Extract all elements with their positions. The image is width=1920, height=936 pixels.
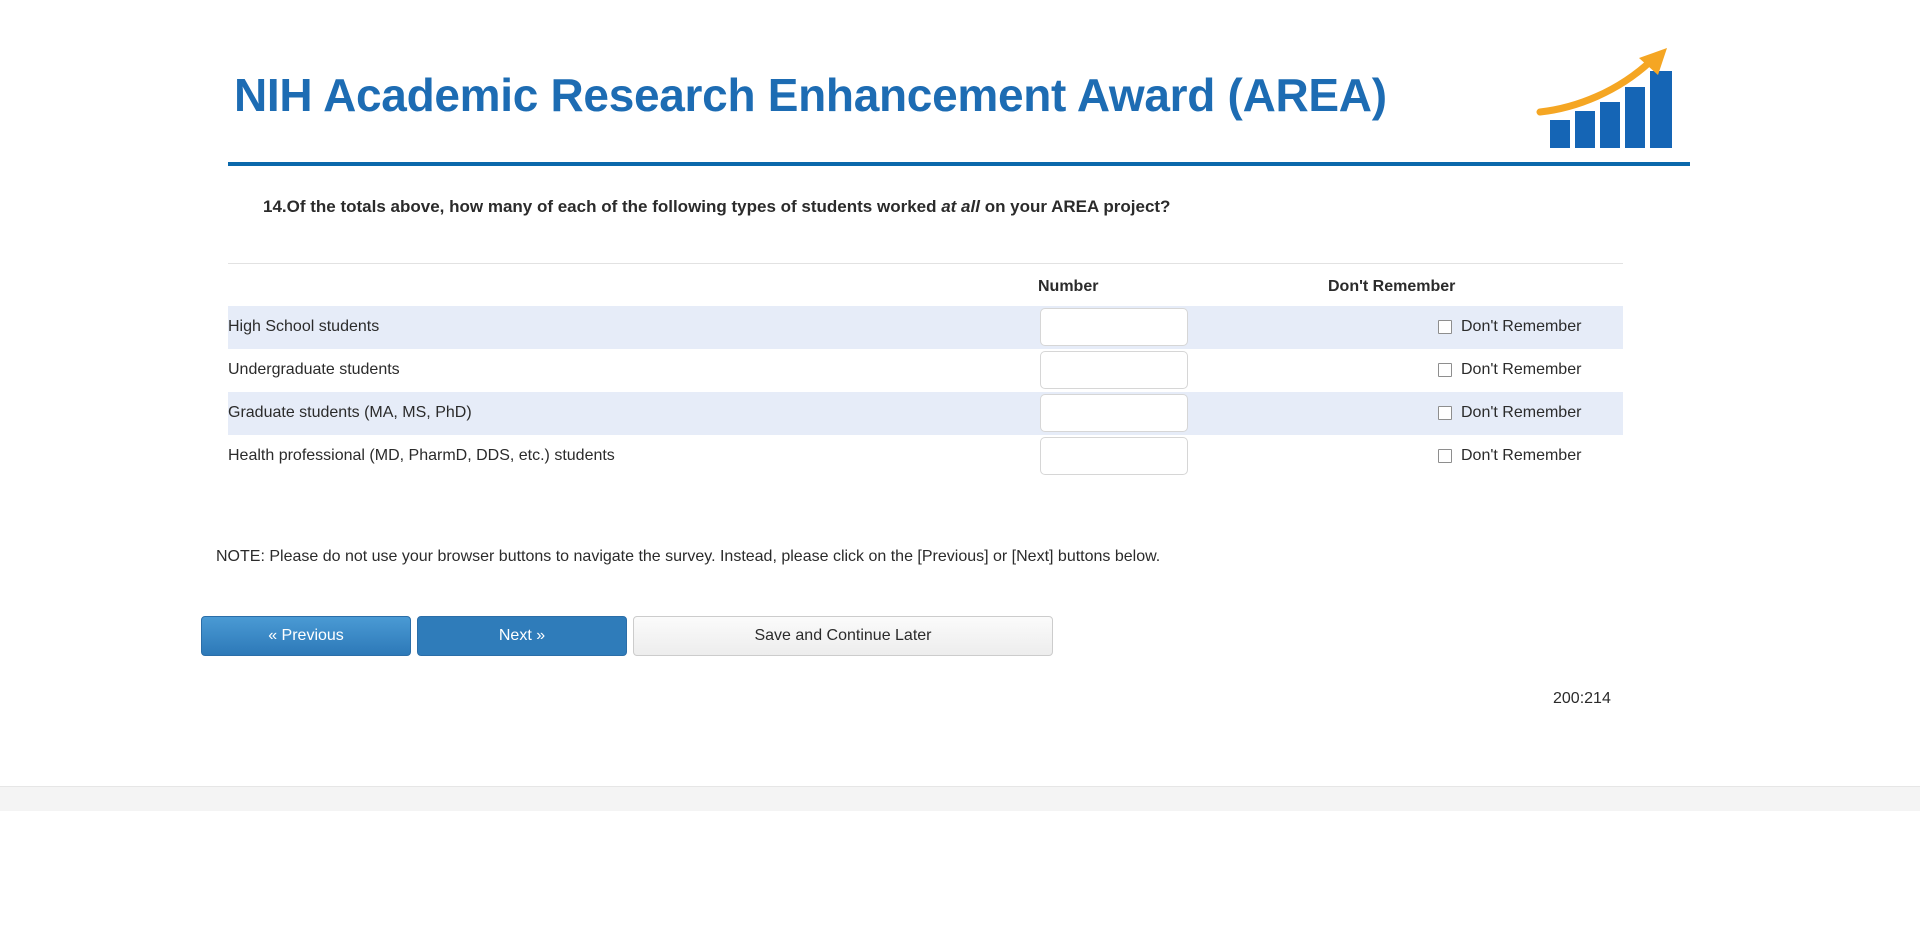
row-label-graduate: Graduate students (MA, MS, PhD) [228,392,1038,435]
dont-remember-option-health-professional[interactable]: Don't Remember [1328,447,1623,465]
table-row: High School students Don't Remember [228,306,1623,349]
dont-remember-label: Don't Remember [1461,404,1581,422]
navigation-note: NOTE: Please do not use your browser but… [216,546,1690,568]
table-row: Health professional (MD, PharmD, DDS, et… [228,435,1623,478]
row-number-cell [1038,435,1328,478]
save-and-continue-later-button[interactable]: Save and Continue Later [633,616,1053,656]
matrix-body: High School students Don't Remember Unde… [228,306,1623,478]
table-row: Graduate students (MA, MS, PhD) Don't Re… [228,392,1623,435]
dont-remember-option-high-school[interactable]: Don't Remember [1328,318,1623,336]
page-title: NIH Academic Research Enhancement Award … [228,70,1387,121]
growth-bar-chart-logo [1536,40,1686,150]
progress-counter: 200:214 [1553,690,1611,708]
navigation-buttons: « Previous Next » Save and Continue Late… [201,616,1690,656]
row-number-cell [1038,306,1328,349]
row-label-undergraduate: Undergraduate students [228,349,1038,392]
row-dont-remember-cell: Don't Remember [1328,306,1623,349]
number-input-undergraduate[interactable] [1040,351,1188,389]
question-text-after: on your AREA project? [980,197,1170,216]
number-input-high-school[interactable] [1040,308,1188,346]
dont-remember-label: Don't Remember [1461,361,1581,379]
table-row: Undergraduate students Don't Remember [228,349,1623,392]
checkbox-icon[interactable] [1438,320,1452,334]
page-title-text: NIH Academic Research Enhancement Award … [234,69,1387,121]
question-text-before: Of the totals above, how many of each of… [287,197,942,216]
students-matrix-table: Number Don't Remember High School studen… [228,263,1623,478]
row-label-high-school: High School students [228,306,1038,349]
dont-remember-label: Don't Remember [1461,447,1581,465]
checkbox-icon[interactable] [1438,449,1452,463]
number-input-graduate[interactable] [1040,394,1188,432]
page-header: NIH Academic Research Enhancement Award … [228,30,1690,165]
number-input-health-professional[interactable] [1040,437,1188,475]
question-emphasis: at all [941,197,980,216]
survey-content: 14.Of the totals above, how many of each… [228,196,1690,656]
row-number-cell [1038,349,1328,392]
matrix-header-row: Number Don't Remember [228,263,1623,306]
row-dont-remember-cell: Don't Remember [1328,349,1623,392]
matrix-header: Number Don't Remember [228,263,1623,306]
dont-remember-option-graduate[interactable]: Don't Remember [1328,404,1623,422]
row-dont-remember-cell: Don't Remember [1328,392,1623,435]
row-dont-remember-cell: Don't Remember [1328,435,1623,478]
previous-button[interactable]: « Previous [201,616,411,656]
column-header-number: Number [1038,263,1328,306]
dont-remember-label: Don't Remember [1461,318,1581,336]
dont-remember-option-undergraduate[interactable]: Don't Remember [1328,361,1623,379]
header-divider [228,162,1690,166]
survey-page: NIH Academic Research Enhancement Award … [0,0,1920,936]
question-number: 14. [263,197,287,216]
column-header-dont-remember: Don't Remember [1328,263,1623,306]
question-text: 14.Of the totals above, how many of each… [263,196,1690,219]
checkbox-icon[interactable] [1438,363,1452,377]
column-header-label [228,263,1038,306]
checkbox-icon[interactable] [1438,406,1452,420]
next-button[interactable]: Next » [417,616,627,656]
row-number-cell [1038,392,1328,435]
footer-strip [0,786,1920,811]
row-label-health-professional: Health professional (MD, PharmD, DDS, et… [228,435,1038,478]
